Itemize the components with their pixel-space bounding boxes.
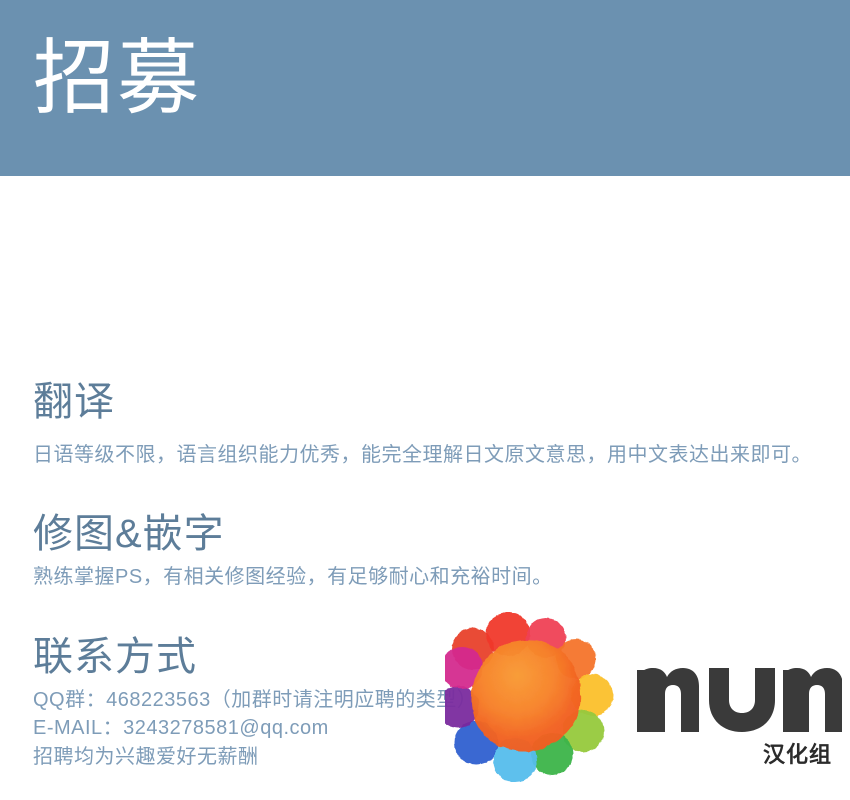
- logo: 汉化组: [445, 612, 840, 787]
- page-title: 招募: [33, 38, 201, 120]
- mum-wordmark: [637, 660, 842, 740]
- mum-sun-logo-icon: [445, 612, 625, 782]
- section-retouch-title: 修图&嵌字: [33, 513, 823, 555]
- section-translate-title: 翻译: [33, 381, 823, 423]
- section-retouch: 修图&嵌字 熟练掌握PS，有相关修图经验，有足够耐心和充裕时间。: [33, 513, 823, 591]
- section-translate-body: 日语等级不限，语言组织能力优秀，能完全理解日文原文意思，用中文表达出来即可。: [33, 441, 823, 469]
- header-band: 招募: [0, 0, 850, 176]
- section-translate: 翻译 日语等级不限，语言组织能力优秀，能完全理解日文原文意思，用中文表达出来即可…: [33, 381, 823, 469]
- section-retouch-body: 熟练掌握PS，有相关修图经验，有足够耐心和充裕时间。: [33, 563, 823, 591]
- logo-subtitle: 汉化组: [763, 737, 832, 769]
